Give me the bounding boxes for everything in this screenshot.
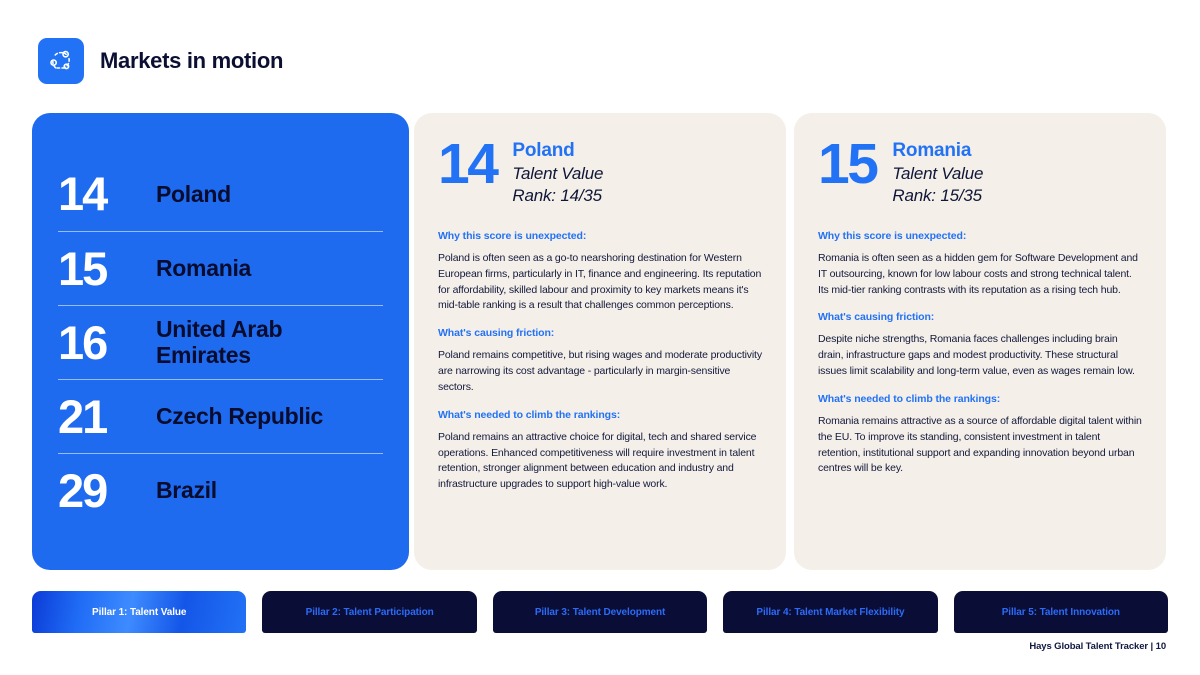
country-card-poland: 14 Poland Talent Value Rank: 14/35 Why t… <box>414 113 786 570</box>
rank-country: Poland <box>156 181 231 207</box>
rank-country: Romania <box>156 255 251 281</box>
section-heading: Why this score is unexpected: <box>818 230 1142 244</box>
pillar-tab-1[interactable]: Pillar 1: Talent Value <box>32 591 246 633</box>
rank-number: 14 <box>58 170 136 217</box>
section-body: Poland remains competitive, but rising w… <box>438 348 762 396</box>
card-country-name: Romania <box>892 139 983 163</box>
rank-number: 16 <box>58 319 136 366</box>
pillar-tab-3[interactable]: Pillar 3: Talent Development <box>493 591 707 633</box>
rank-list-panel: 14 Poland 15 Romania 16 United Arab Emir… <box>32 113 409 570</box>
section-body: Despite niche strengths, Romania faces c… <box>818 332 1142 380</box>
section-heading: What's needed to climb the rankings: <box>438 409 762 423</box>
section-body: Romania is often seen as a hidden gem fo… <box>818 251 1142 299</box>
card-country-name: Poland <box>512 139 603 163</box>
rank-row[interactable]: 21 Czech Republic <box>58 379 383 453</box>
section-heading: What's causing friction: <box>438 327 762 341</box>
rank-country: Brazil <box>156 477 217 503</box>
section-heading: What's causing friction: <box>818 311 1142 325</box>
pillar-tab-5[interactable]: Pillar 5: Talent Innovation <box>954 591 1168 633</box>
card-rank-number: 14 <box>438 139 496 189</box>
section-heading: Why this score is unexpected: <box>438 230 762 244</box>
card-header: 14 Poland Talent Value Rank: 14/35 <box>438 137 762 208</box>
rank-number: 29 <box>58 467 136 514</box>
card-header: 15 Romania Talent Value Rank: 15/35 <box>818 137 1142 208</box>
section-body: Romania remains attractive as a source o… <box>818 414 1142 478</box>
pillar-tab-2[interactable]: Pillar 2: Talent Participation <box>262 591 476 633</box>
rank-number: 21 <box>58 393 136 440</box>
page-title: Markets in motion <box>100 48 283 74</box>
rank-row[interactable]: 29 Brazil <box>58 453 383 527</box>
rank-number: 15 <box>58 245 136 292</box>
rank-row[interactable]: 15 Romania <box>58 231 383 305</box>
slide-root: Markets in motion 14 Poland 15 Romania 1… <box>0 0 1200 675</box>
pillar-tab-4[interactable]: Pillar 4: Talent Market Flexibility <box>723 591 937 633</box>
rank-country: Czech Republic <box>156 403 323 429</box>
rank-country: United Arab Emirates <box>156 316 383 368</box>
footer-attribution: Hays Global Talent Tracker | 10 <box>1029 641 1166 652</box>
rank-row[interactable]: 16 United Arab Emirates <box>58 305 383 379</box>
section-body: Poland is often seen as a go-to nearshor… <box>438 251 762 315</box>
card-rank-label: Rank: 14/35 <box>512 185 603 208</box>
section-heading: What's needed to climb the rankings: <box>818 393 1142 407</box>
pillar-tabs: Pillar 1: Talent Value Pillar 2: Talent … <box>32 591 1168 633</box>
section-body: Poland remains an attractive choice for … <box>438 430 762 494</box>
slide-header: Markets in motion <box>38 38 283 84</box>
card-rank-label: Rank: 15/35 <box>892 185 983 208</box>
rank-row[interactable]: 14 Poland <box>58 157 383 231</box>
card-pillar-name: Talent Value <box>512 163 603 186</box>
country-card-romania: 15 Romania Talent Value Rank: 15/35 Why … <box>794 113 1166 570</box>
card-pillar-name: Talent Value <box>892 163 983 186</box>
network-nodes-icon <box>38 38 84 84</box>
card-rank-number: 15 <box>818 139 876 189</box>
